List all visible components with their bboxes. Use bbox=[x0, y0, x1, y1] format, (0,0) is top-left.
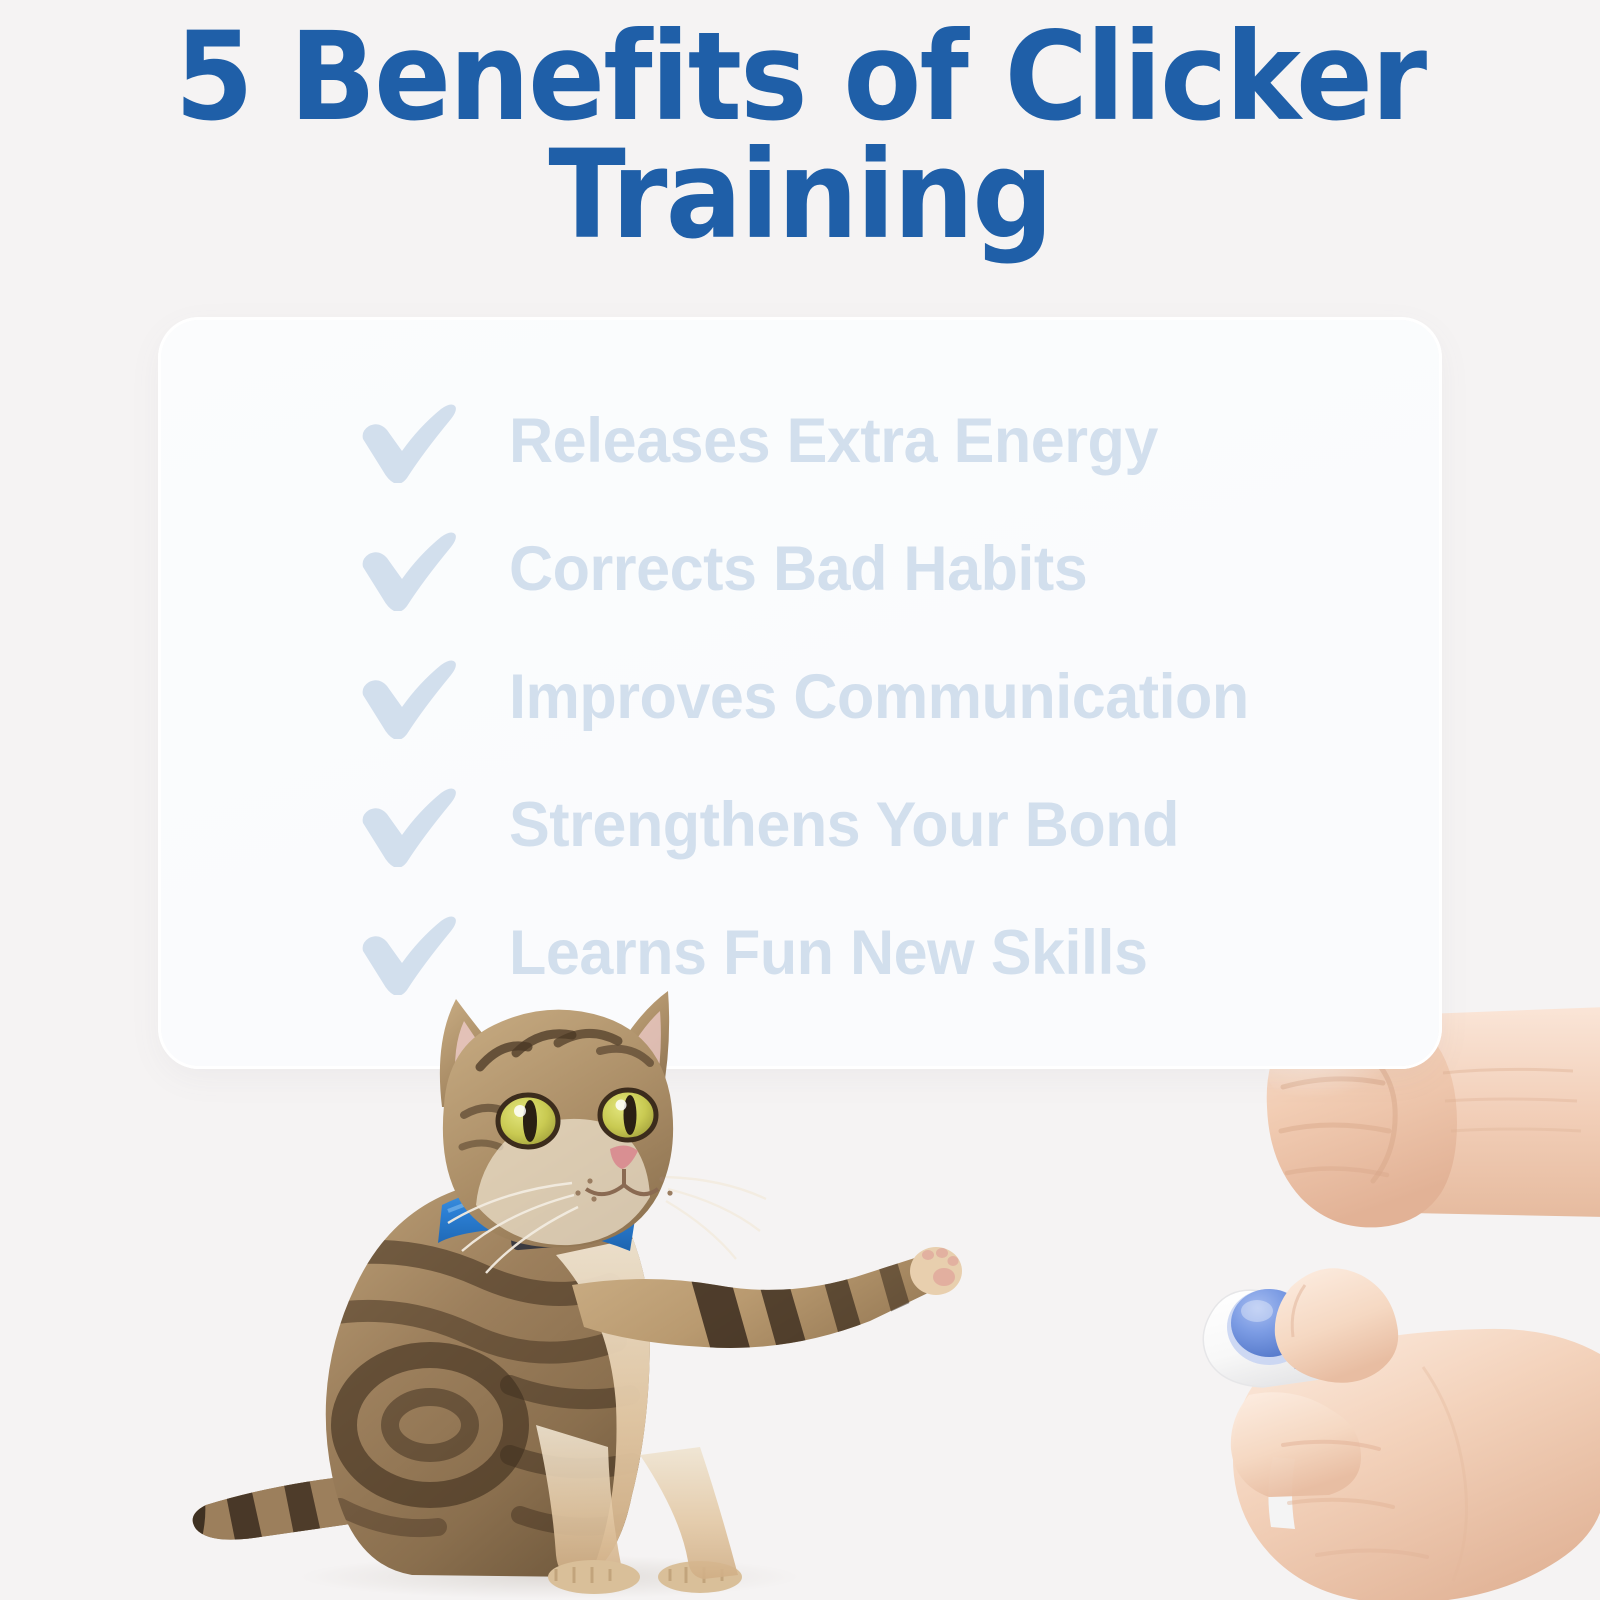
brown-tabby-cat bbox=[180, 955, 980, 1600]
photo-layer-front: Purro bbox=[0, 0, 1600, 1600]
hand-holding-clicker: Purro bbox=[1165, 1245, 1600, 1600]
poster-canvas: 5 Benefits of Clicker Training bbox=[0, 0, 1600, 1600]
